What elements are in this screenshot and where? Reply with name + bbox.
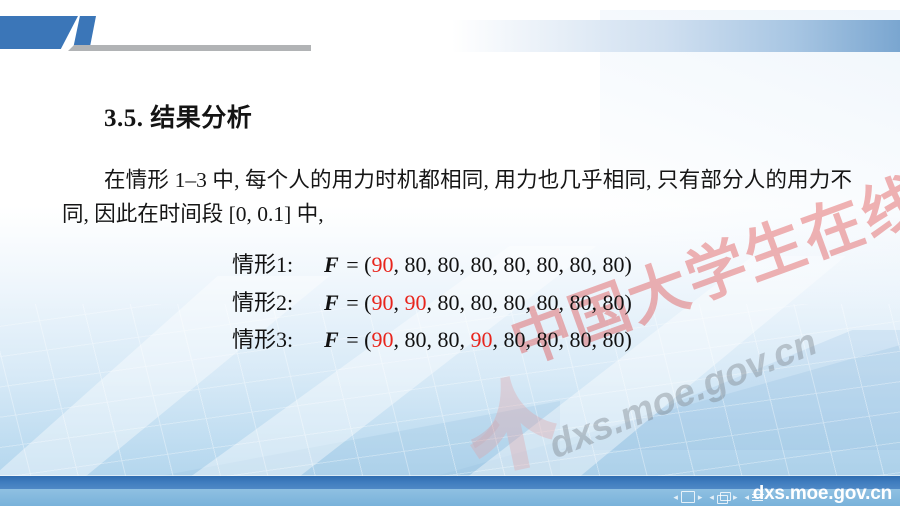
formula-label: 情形2:	[232, 284, 324, 322]
formula-equals: =	[346, 252, 358, 277]
formula-value: 90	[404, 290, 426, 315]
formula-equals: =	[346, 290, 358, 315]
formula-variable: F	[324, 290, 341, 315]
header-gray-rule	[68, 45, 311, 51]
formula-value: 80	[437, 327, 459, 352]
next-stack-icon[interactable]: ▸	[733, 493, 738, 502]
formula-equals: =	[346, 327, 358, 352]
stack-nav-group[interactable]: ◂ ▸	[709, 492, 737, 503]
slide-content: 3.5. 结果分析 在情形 1–3 中, 每个人的用力时机都相同, 用力也几乎相…	[0, 0, 900, 506]
slide-footer: ◂ ▸ ◂ ▸ ◂ dxs.moe.gov.cn	[0, 476, 900, 506]
formula-value: 80	[470, 252, 492, 277]
header-gradient-band	[452, 20, 900, 52]
formula-value: 80	[536, 290, 558, 315]
slide-nav-group[interactable]: ◂ ▸	[673, 491, 702, 503]
formula-value: 80	[569, 252, 591, 277]
formula-value: 90	[470, 327, 492, 352]
formula-row: 情形1:F = (90, 80, 80, 80, 80, 80, 80, 80)	[232, 246, 632, 284]
slide-frame-icon[interactable]	[681, 491, 695, 503]
header-blue-slash-icon	[73, 16, 96, 49]
formula-value: 80	[503, 327, 525, 352]
slide-header	[0, 0, 900, 62]
next-slide-icon[interactable]: ▸	[698, 493, 703, 502]
page-title: 3.5. 结果分析	[104, 98, 252, 134]
formula-block: 情形1:F = (90, 80, 80, 80, 80, 80, 80, 80)…	[232, 246, 632, 359]
formula-value: 80	[602, 252, 624, 277]
formula-value: 80	[536, 252, 558, 277]
formula-value: 80	[503, 252, 525, 277]
formula-close-paren: )	[624, 290, 631, 315]
formula-variable: F	[324, 327, 341, 352]
formula-value: 80	[437, 290, 459, 315]
footer-navigation[interactable]: ◂ ▸ ◂ ▸ ◂	[673, 488, 764, 506]
stacked-slides-icon[interactable]	[717, 492, 730, 503]
formula-label: 情形3:	[232, 321, 324, 359]
footer-url: dxs.moe.gov.cn	[753, 483, 892, 504]
formula-close-paren: )	[624, 252, 631, 277]
formula-value: 80	[536, 327, 558, 352]
formula-value: 80	[404, 327, 426, 352]
formula-variable: F	[324, 252, 341, 277]
formula-row: 情形3:F = (90, 80, 80, 90, 80, 80, 80, 80)	[232, 321, 632, 359]
prev-slide-icon[interactable]: ◂	[673, 493, 678, 502]
formula-value: 80	[437, 252, 459, 277]
body-paragraph: 在情形 1–3 中, 每个人的用力时机都相同, 用力也几乎相同, 只有部分人的用…	[62, 163, 852, 231]
header-blue-block-icon	[0, 16, 78, 49]
formula-value: 80	[602, 327, 624, 352]
formula-value: 80	[470, 290, 492, 315]
formula-label: 情形1:	[232, 246, 324, 284]
formula-value: 90	[371, 252, 393, 277]
formula-value: 90	[371, 290, 393, 315]
formula-value: 90	[371, 327, 393, 352]
prev-outline-icon[interactable]: ◂	[744, 493, 749, 502]
formula-value: 80	[404, 252, 426, 277]
formula-close-paren: )	[624, 327, 631, 352]
presentation-slide: 中国大学生在线 dxs.moe.gov.cn 3.5. 结果分析 在情形 1–3…	[0, 0, 900, 506]
formula-value: 80	[569, 327, 591, 352]
prev-stack-icon[interactable]: ◂	[709, 493, 714, 502]
formula-value: 80	[503, 290, 525, 315]
formula-value: 80	[569, 290, 591, 315]
formula-value: 80	[602, 290, 624, 315]
formula-row: 情形2:F = (90, 90, 80, 80, 80, 80, 80, 80)	[232, 284, 632, 322]
